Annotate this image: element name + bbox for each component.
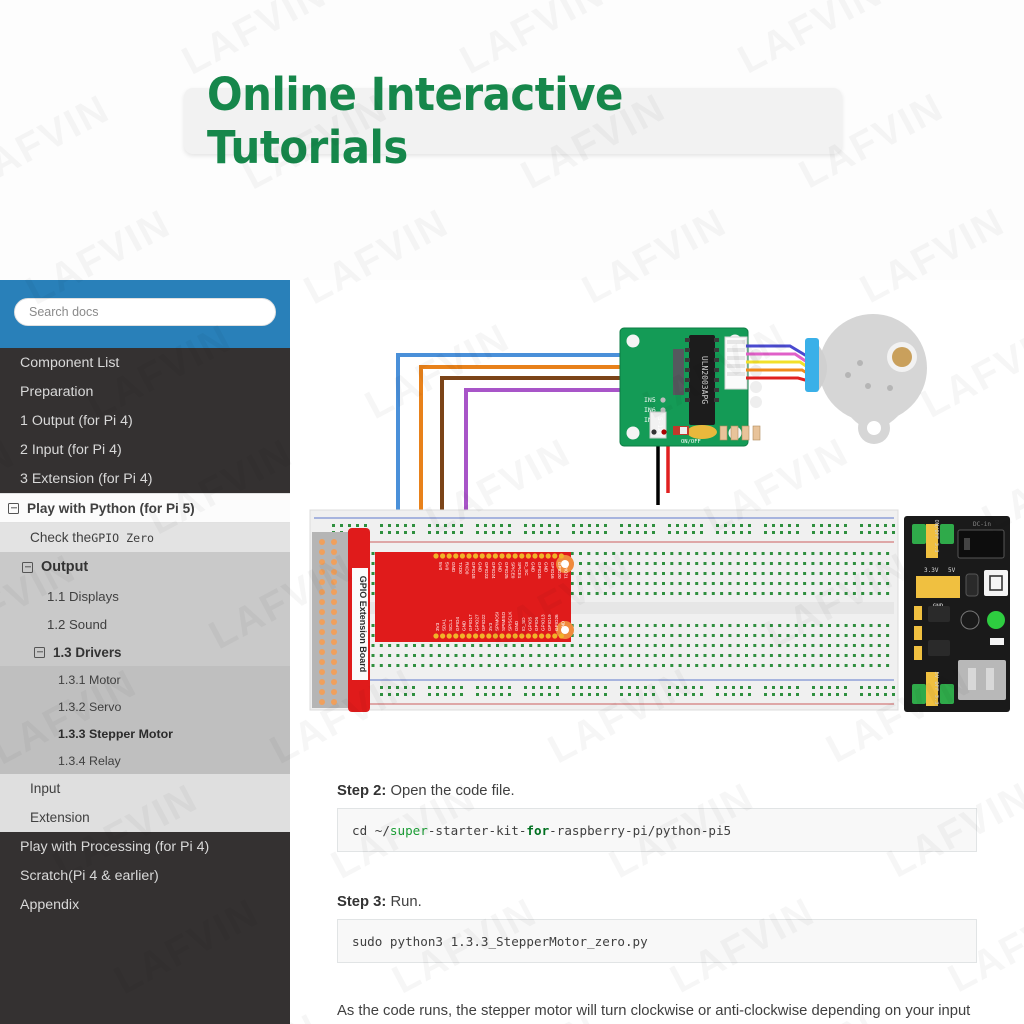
svg-text:ID_SD: ID_SD: [521, 617, 526, 631]
svg-text:ID_SC: ID_SC: [524, 562, 529, 576]
code-cd-mid: -starter-kit-: [428, 823, 527, 838]
sidebar-item-1-3-2-servo[interactable]: 1.3.2 Servo: [0, 693, 290, 720]
sidebar-item-1-1-displays[interactable]: 1.1 Displays: [0, 582, 290, 610]
sidebar-item-label: Play with Processing (for Pi 4): [20, 839, 209, 855]
code-block-cd[interactable]: cd ~/super-starter-kit-for-raspberry-pi/…: [337, 808, 977, 852]
svg-text:GND: GND: [544, 562, 549, 573]
svg-text:GPIO19: GPIO19: [547, 614, 552, 631]
sidebar-item-3-extension-for-pi-4[interactable]: 3 Extension (for Pi 4): [0, 464, 290, 493]
svg-text:ON/OFF: ON/OFF: [681, 439, 701, 445]
sidebar-item-label: Check the: [30, 530, 91, 545]
svg-text:GPIO16: GPIO16: [537, 562, 542, 579]
collapse-minus-icon[interactable]: [34, 647, 45, 658]
svg-text:GPIO23: GPIO23: [484, 562, 489, 579]
sidebar-item-label: 3 Extension (for Pi 4): [20, 471, 152, 487]
sidebar-item-label: 1.3.2 Servo: [58, 700, 121, 714]
svg-text:GPIO27: GPIO27: [475, 614, 480, 631]
sidebar-item-label: 1.3.4 Relay: [58, 754, 121, 768]
sidebar-item-scratch-pi-4-earlier[interactable]: Scratch(Pi 4 & earlier): [0, 861, 290, 890]
svg-text:SPISCLK: SPISCLK: [508, 611, 513, 631]
search-input[interactable]: [14, 298, 276, 326]
svg-text:3V3: 3V3: [488, 622, 493, 631]
main-content: ULN2003APG IN: [290, 280, 1024, 1024]
svg-text:SPIMISO: SPIMISO: [501, 611, 506, 631]
code-cd-token-super: super: [390, 823, 428, 838]
sidebar-nav: Component ListPreparation1 Output (for P…: [0, 348, 290, 919]
page-title: Online Interactive Tutorials: [207, 68, 819, 174]
step-3-paragraph: Step 3: Run.: [290, 891, 468, 913]
sidebar-item-label: Preparation: [20, 384, 93, 400]
docs-window: Component ListPreparation1 Output (for P…: [0, 280, 1024, 1024]
sidebar-item-1-3-1-motor[interactable]: 1.3.1 Motor: [0, 666, 290, 693]
watermark-text: LAFVIN: [332, 0, 610, 27]
watermark-text: LAFVIN: [0, 27, 176, 257]
sidebar-item-1-3-3-stepper-motor[interactable]: 1.3.3 Stepper Motor: [0, 720, 290, 747]
svg-text:TXD0: TXD0: [458, 562, 463, 574]
sidebar-item-play-with-python-for-pi-5[interactable]: Play with Python (for Pi 5): [0, 493, 290, 523]
power-supply-module: ON/OFF 3.3 DC-in 3.3V 5V GND: [904, 516, 1010, 712]
stepper-motor: [805, 314, 927, 444]
code-run-text: sudo python3 1.3.3_StepperMotor_zero.py: [352, 934, 648, 949]
sidebar: Component ListPreparation1 Output (for P…: [0, 280, 290, 1024]
gpio-extension-board: 5V05V0GNDTXD0RXD0GPIO18GNDGPIO23GPIO24GN…: [375, 552, 574, 642]
page-title-card: Online Interactive Tutorials: [184, 88, 842, 154]
sidebar-item-output[interactable]: Output: [0, 552, 290, 582]
svg-text:GPIO22: GPIO22: [481, 614, 486, 631]
svg-text:GND: GND: [478, 562, 483, 573]
sidebar-item-component-list[interactable]: Component List: [0, 348, 290, 377]
step-2-paragraph: Step 2: Open the code file.: [290, 780, 561, 802]
code-block-run[interactable]: sudo python3 1.3.3_StepperMotor_zero.py: [337, 919, 977, 963]
svg-text:GPIO20: GPIO20: [557, 562, 562, 579]
sidebar-item-preparation[interactable]: Preparation: [0, 377, 290, 406]
sidebar-item-label: Component List: [20, 355, 119, 371]
svg-text:GND: GND: [451, 562, 456, 573]
sidebar-item-label: Output: [41, 559, 88, 575]
sidebar-item-label: Extension: [30, 810, 90, 825]
code-cd-pre: cd ~/: [352, 823, 390, 838]
svg-text:IN5: IN5: [644, 396, 656, 404]
svg-text:SDA1: SDA1: [442, 619, 447, 631]
svg-text:5V0: 5V0: [445, 562, 450, 571]
svg-text:GPIO26: GPIO26: [554, 614, 559, 631]
svg-text:GPIO24: GPIO24: [491, 562, 496, 579]
code-cd-token-for: for: [526, 823, 549, 838]
svg-text:5V OFF 3.3: 5V OFF 3.3: [933, 671, 939, 704]
svg-text:5V0: 5V0: [438, 562, 443, 571]
svg-text:3.3V: 3.3V: [924, 567, 939, 574]
svg-text:GND: GND: [497, 562, 502, 573]
svg-text:GPIO25: GPIO25: [504, 562, 509, 579]
sidebar-item-label: 1.2 Sound: [47, 617, 107, 632]
sidebar-item-label: Input: [30, 781, 60, 796]
sidebar-item-label: 1.3 Drivers: [53, 645, 122, 660]
tail-paragraph: As the code runs, the stepper motor will…: [290, 1000, 1016, 1022]
uln2003-driver-board: ULN2003APG IN: [620, 328, 762, 446]
step-2-label: Step 2:: [337, 783, 386, 799]
svg-text:GND: GND: [514, 620, 519, 631]
svg-text:RXD0: RXD0: [464, 562, 469, 575]
svg-text:SCL1: SCL1: [448, 619, 453, 631]
svg-text:5V: 5V: [948, 567, 956, 574]
svg-text:GPIO4: GPIO4: [455, 617, 460, 631]
svg-text:GPIO6: GPIO6: [534, 617, 539, 631]
svg-text:GPIO17: GPIO17: [468, 614, 473, 631]
step-2-text: Open the code file.: [386, 783, 514, 799]
sidebar-item-2-input-for-pi-4[interactable]: 2 Input (for Pi 4): [0, 435, 290, 464]
sidebar-item-label: 1 Output (for Pi 4): [20, 413, 133, 429]
svg-text:GPIO21: GPIO21: [563, 562, 568, 579]
circuit-diagram-figure: ULN2003APG IN: [290, 280, 1024, 750]
sidebar-item-label: Appendix: [20, 897, 79, 913]
sidebar-item-label: Scratch(Pi 4 & earlier): [20, 868, 159, 884]
svg-text:SPICE0: SPICE0: [511, 562, 516, 579]
svg-text:SPICE1: SPICE1: [517, 562, 522, 579]
step-3-text: Run.: [386, 894, 421, 910]
sidebar-item-extension[interactable]: Extension: [0, 803, 290, 832]
collapse-minus-icon[interactable]: [8, 503, 19, 514]
sidebar-item-label: Play with Python (for Pi 5): [27, 501, 195, 516]
tutorial-page: LAFVINLAFVINLAFVINLAFVINLAFVINLAFVINLAFV…: [0, 0, 1024, 1024]
svg-text:ULN2003APG: ULN2003APG: [700, 356, 709, 404]
code-cd-post: -raspberry-pi/python-pi5: [549, 823, 731, 838]
svg-text:GND: GND: [560, 620, 565, 631]
sidebar-item-label: 2 Input (for Pi 4): [20, 442, 122, 458]
sidebar-item-label-code: GPIO Zero: [91, 531, 154, 545]
sidebar-item-1-3-4-relay[interactable]: 1.3.4 Relay: [0, 747, 290, 774]
svg-text:GPIO13: GPIO13: [541, 614, 546, 631]
sidebar-item-label: 1.3.3 Stepper Motor: [58, 727, 173, 741]
sidebar-item-label: 1.1 Displays: [47, 589, 119, 604]
svg-text:GND: GND: [461, 620, 466, 631]
sidebar-item-appendix[interactable]: Appendix: [0, 890, 290, 919]
svg-text:GPIO18: GPIO18: [471, 562, 476, 579]
sidebar-item-1-output-for-pi-4[interactable]: 1 Output (for Pi 4): [0, 406, 290, 435]
svg-text:DC-in: DC-in: [973, 521, 991, 528]
svg-text:3V3: 3V3: [435, 622, 440, 631]
circuit-diagram-svg: ULN2003APG IN: [290, 280, 1024, 750]
watermark-text: LAFVIN: [610, 0, 888, 26]
sidebar-item-input[interactable]: Input: [0, 774, 290, 803]
sidebar-item-1-2-sound[interactable]: 1.2 Sound: [0, 610, 290, 638]
svg-text:GPIO Extension Board: GPIO Extension Board: [358, 576, 368, 673]
search-wrap: [14, 298, 276, 326]
step-3-label: Step 3:: [337, 894, 386, 910]
svg-text:GPIO16: GPIO16: [550, 562, 555, 579]
sidebar-item-play-with-processing-for-pi-4[interactable]: Play with Processing (for Pi 4): [0, 832, 290, 861]
svg-text:GPIO5: GPIO5: [527, 617, 532, 631]
collapse-minus-icon[interactable]: [22, 562, 33, 573]
sidebar-item-1-3-drivers[interactable]: 1.3 Drivers: [0, 638, 290, 666]
sidebar-item-check-the[interactable]: Check the GPIO Zero: [0, 523, 290, 552]
sidebar-header: [0, 280, 290, 348]
svg-text:GND: GND: [530, 562, 535, 573]
sidebar-item-label: 1.3.1 Motor: [58, 673, 121, 687]
svg-text:ON/OFF 3.3: ON/OFF 3.3: [933, 519, 939, 552]
svg-text:SPIMOSI: SPIMOSI: [494, 612, 499, 631]
